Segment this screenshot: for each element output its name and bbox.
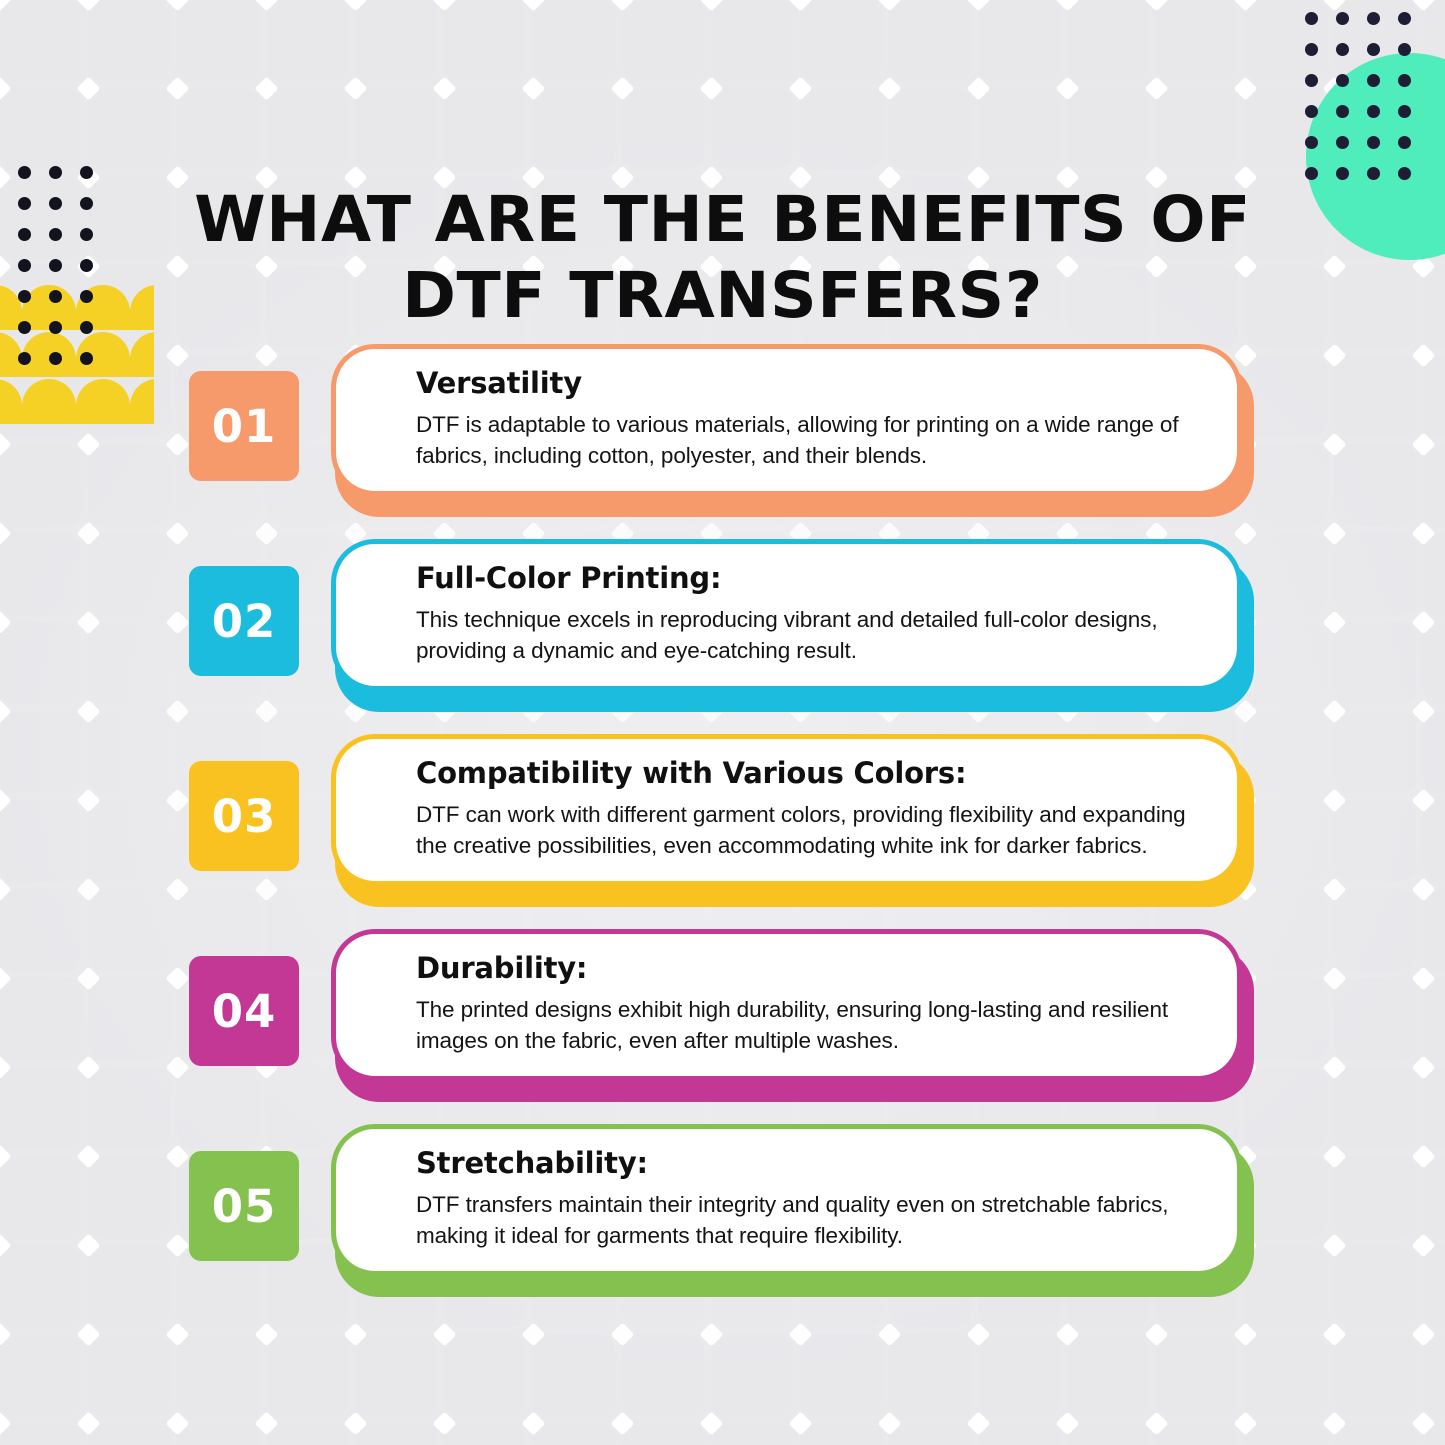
card-heading: Durability: <box>416 951 1207 985</box>
dot-grid-top-right-icon <box>1305 12 1429 198</box>
benefit-card[interactable]: Full-Color Printing: This technique exce… <box>331 539 1242 691</box>
card-heading: Compatibility with Various Colors: <box>416 756 1207 790</box>
card-body: DTF can work with different garment colo… <box>416 799 1207 861</box>
card-container[interactable]: Durability: The printed designs exhibit … <box>331 929 1254 1101</box>
benefit-card[interactable]: Versatility DTF is adaptable to various … <box>331 344 1242 496</box>
benefit-card[interactable]: Stretchability: DTF transfers maintain t… <box>331 1124 1242 1276</box>
list-item: 02 Full-Color Printing: This technique e… <box>0 539 1445 734</box>
card-number-badge: 01 <box>189 371 299 481</box>
infographic-canvas: WHAT ARE THE BENEFITS OF DTF TRANSFERS? … <box>0 0 1445 1445</box>
card-body: DTF transfers maintain their integrity a… <box>416 1189 1207 1251</box>
card-heading: Versatility <box>416 366 1207 400</box>
card-container[interactable]: Versatility DTF is adaptable to various … <box>331 344 1254 516</box>
list-item: 03 Compatibility with Various Colors: DT… <box>0 734 1445 929</box>
card-container[interactable]: Stretchability: DTF transfers maintain t… <box>331 1124 1254 1296</box>
card-heading: Stretchability: <box>416 1146 1207 1180</box>
list-item: 04 Durability: The printed designs exhib… <box>0 929 1445 1124</box>
benefit-card[interactable]: Compatibility with Various Colors: DTF c… <box>331 734 1242 886</box>
list-item: 01 Versatility DTF is adaptable to vario… <box>0 344 1445 539</box>
card-body: The printed designs exhibit high durabil… <box>416 994 1207 1056</box>
card-number-badge: 05 <box>189 1151 299 1261</box>
card-heading: Full-Color Printing: <box>416 561 1207 595</box>
benefits-list: 01 Versatility DTF is adaptable to vario… <box>0 344 1445 1319</box>
list-item: 05 Stretchability: DTF transfers maintai… <box>0 1124 1445 1319</box>
card-container[interactable]: Compatibility with Various Colors: DTF c… <box>331 734 1254 906</box>
card-number-badge: 03 <box>189 761 299 871</box>
card-body: This technique excels in reproducing vib… <box>416 604 1207 666</box>
card-container[interactable]: Full-Color Printing: This technique exce… <box>331 539 1254 711</box>
benefit-card[interactable]: Durability: The printed designs exhibit … <box>331 929 1242 1081</box>
page-title: WHAT ARE THE BENEFITS OF DTF TRANSFERS? <box>133 182 1312 334</box>
card-body: DTF is adaptable to various materials, a… <box>416 409 1207 471</box>
card-number-badge: 02 <box>189 566 299 676</box>
card-number-badge: 04 <box>189 956 299 1066</box>
